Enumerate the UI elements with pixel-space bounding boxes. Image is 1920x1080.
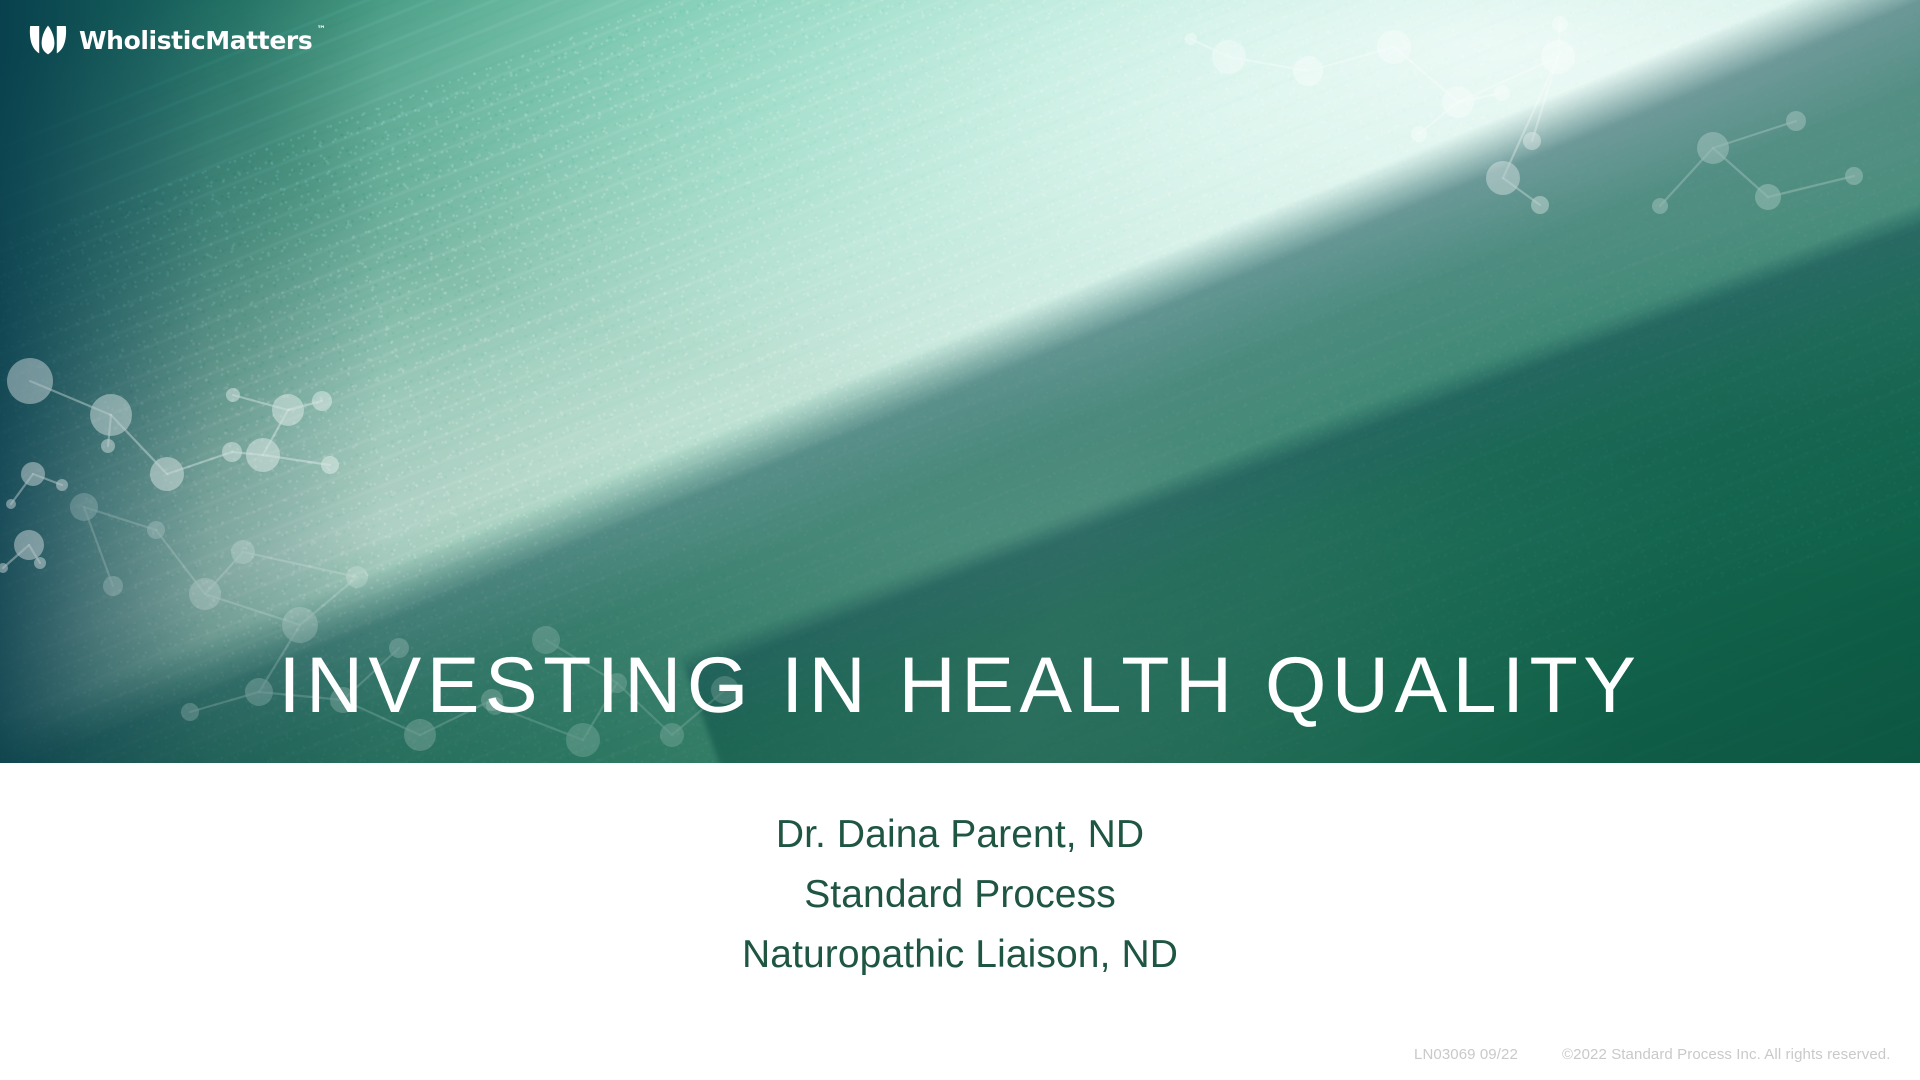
presenter-panel: Dr. Daina Parent, ND Standard Process Na…: [0, 763, 1920, 1080]
logo-wordmark-text: WholisticMatters: [79, 26, 312, 55]
presenter-role: Naturopathic Liaison, ND: [0, 925, 1920, 985]
logo-trademark-symbol: ™: [317, 26, 326, 35]
presenter-name: Dr. Daina Parent, ND: [0, 805, 1920, 865]
slide-footer: LN03069 09/22 ©2022 Standard Process Inc…: [0, 1044, 1920, 1066]
footer-document-code: LN03069 09/22: [1414, 1044, 1518, 1066]
footer-copyright: ©2022 Standard Process Inc. All rights r…: [1562, 1044, 1891, 1066]
presenter-block: Dr. Daina Parent, ND Standard Process Na…: [0, 805, 1920, 985]
wholisticmatters-logo[interactable]: WholisticMatters ™: [28, 24, 312, 56]
logo-wordmark: WholisticMatters ™: [79, 28, 312, 53]
presenter-organization: Standard Process: [0, 865, 1920, 925]
three-petal-leaf-mark-icon: [28, 24, 68, 56]
title-slide: WholisticMatters ™ INVESTING IN HEALTH Q…: [0, 0, 1920, 1080]
slide-title: INVESTING IN HEALTH QUALITY: [0, 645, 1920, 724]
